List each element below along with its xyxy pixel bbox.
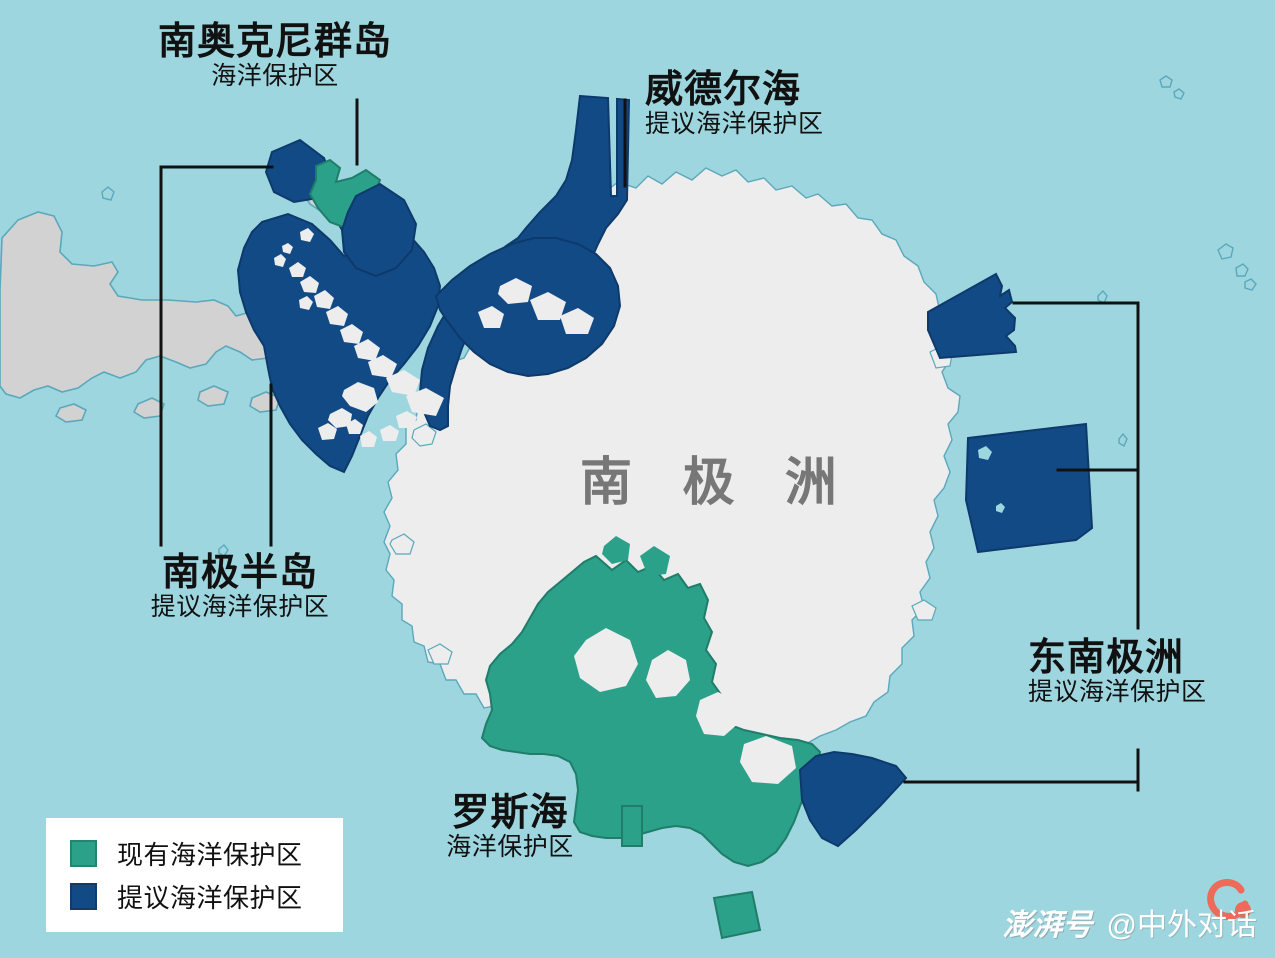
callout-south-orkney: 南奥克尼群岛 海洋保护区 [60, 22, 490, 91]
legend-item-existing-mpa: 现有海洋保护区 [46, 832, 343, 875]
legend-swatch-proposed-mpa [70, 883, 97, 910]
callout-south-orkney-subtitle: 海洋保护区 [60, 62, 490, 91]
callout-ross-sea-subtitle: 海洋保护区 [360, 833, 660, 862]
watermark-brand: 澎湃号 [1003, 900, 1093, 944]
watermark-handle: @中外对话 [1107, 900, 1257, 944]
callout-antarctic-peninsula: 南极半岛 提议海洋保护区 [55, 553, 425, 622]
legend-item-proposed-mpa: 提议海洋保护区 [46, 875, 343, 918]
callout-east-antarctica-title: 东南极洲 [1028, 638, 1273, 678]
legend-label-existing-mpa: 现有海洋保护区 [117, 835, 303, 872]
antarctica-mpa-map: 南奥克尼群岛 海洋保护区 威德尔海 提议海洋保护区 南极半岛 提议海洋保护区 东… [0, 0, 1275, 958]
callout-east-antarctica: 东南极洲 提议海洋保护区 [1028, 638, 1273, 707]
continent-label: 南 极 洲 [580, 440, 855, 515]
callout-antarctic-peninsula-subtitle: 提议海洋保护区 [55, 593, 425, 622]
callout-ross-sea-title: 罗斯海 [360, 793, 660, 833]
watermark: 澎湃号 @中外对话 [1003, 896, 1257, 948]
legend-swatch-existing-mpa [70, 840, 97, 867]
legend-label-proposed-mpa: 提议海洋保护区 [117, 878, 303, 915]
callout-antarctic-peninsula-title: 南极半岛 [55, 553, 425, 593]
callout-weddell-sea-subtitle: 提议海洋保护区 [645, 110, 1005, 139]
callout-south-orkney-title: 南奥克尼群岛 [60, 22, 490, 62]
callout-ross-sea: 罗斯海 海洋保护区 [360, 793, 660, 862]
callout-east-antarctica-subtitle: 提议海洋保护区 [1028, 678, 1273, 707]
callout-weddell-sea: 威德尔海 提议海洋保护区 [645, 70, 1005, 139]
callout-weddell-sea-title: 威德尔海 [645, 70, 1005, 110]
legend: 现有海洋保护区 提议海洋保护区 [46, 818, 343, 932]
mpa-east-antarctica-south [966, 424, 1092, 552]
